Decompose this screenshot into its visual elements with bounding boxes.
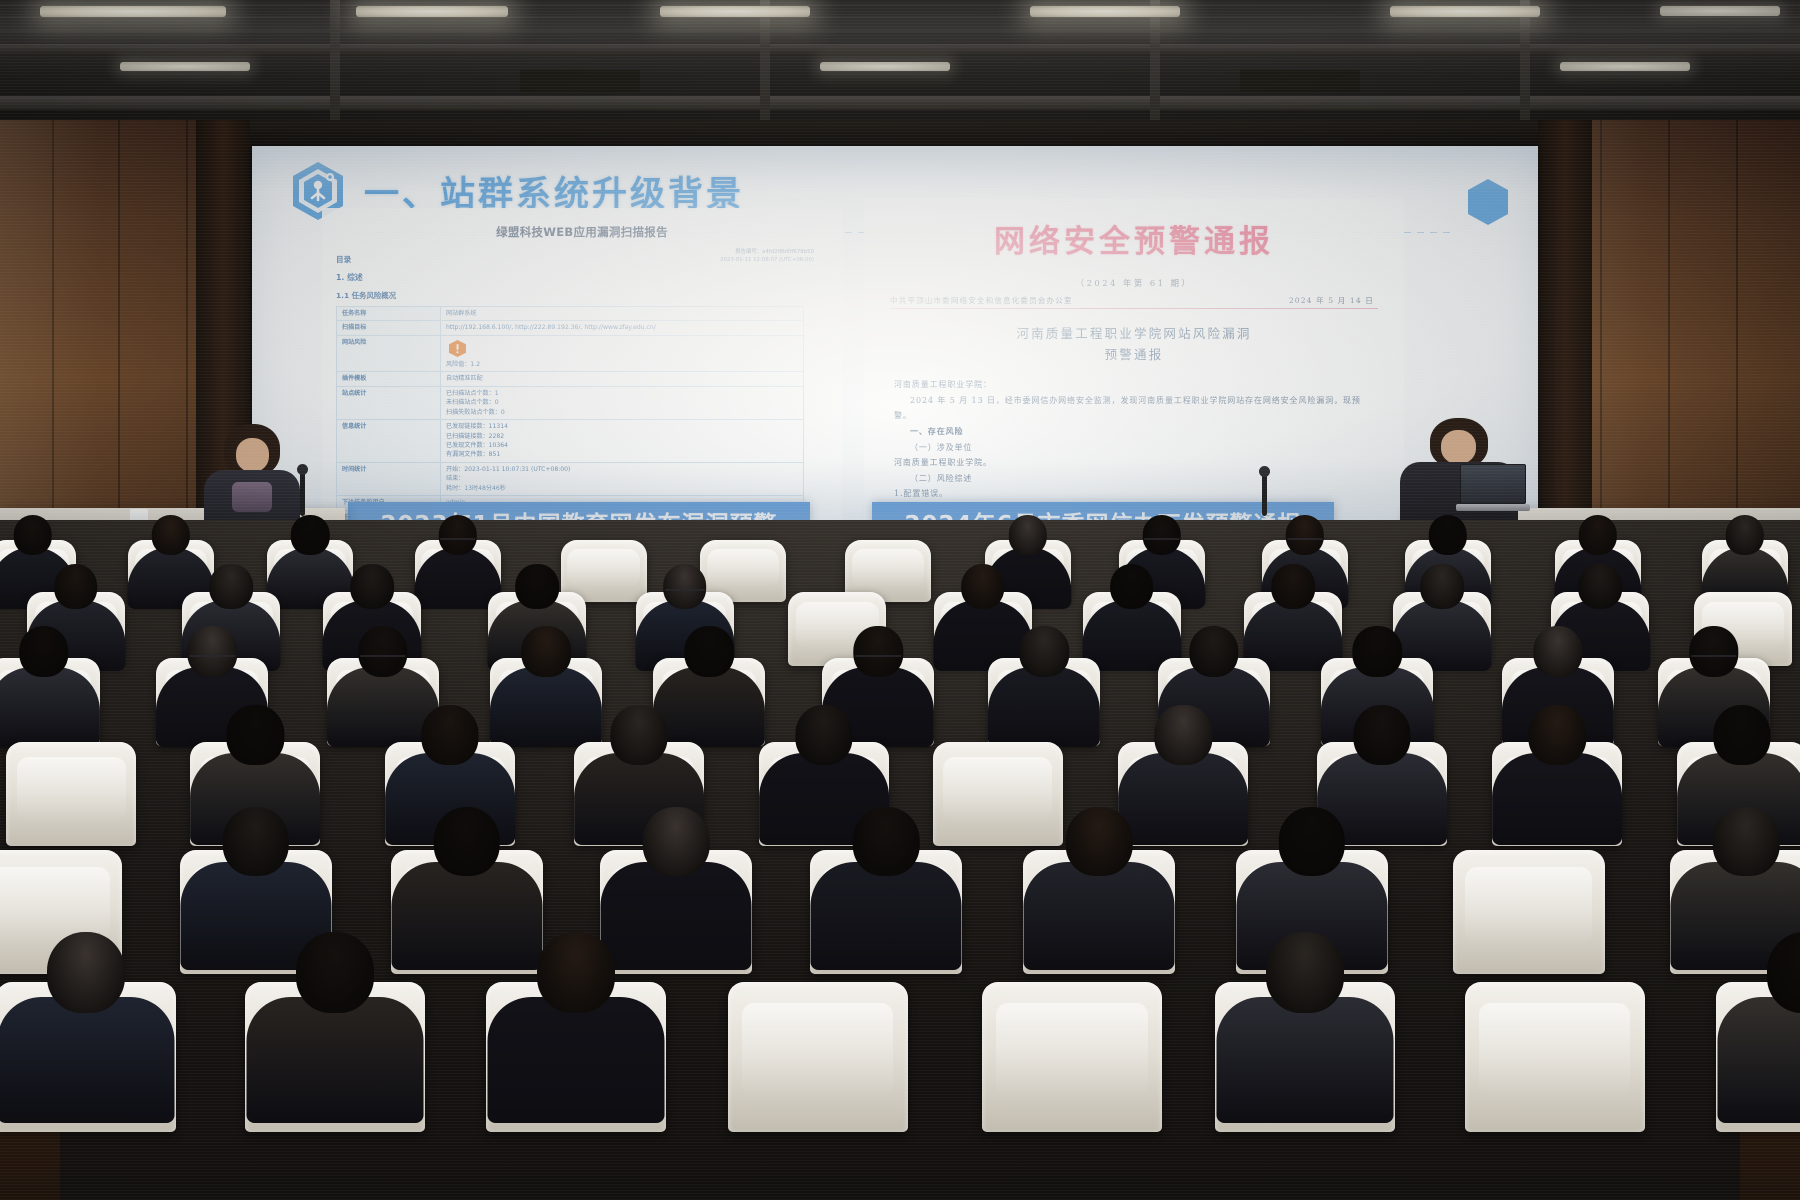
audience-head xyxy=(1271,564,1315,609)
audience-head xyxy=(1143,515,1181,555)
audience-head xyxy=(1155,705,1212,764)
audience-head xyxy=(1726,515,1764,555)
audience-head xyxy=(961,564,1005,609)
laptop-right xyxy=(1456,464,1530,516)
audience-head xyxy=(54,564,98,609)
ceiling-light xyxy=(356,6,508,17)
audience-head xyxy=(1353,626,1402,677)
notice-title: 网络安全预警通报 xyxy=(864,216,1404,261)
audience-chair xyxy=(982,982,1162,1132)
notice-item-1-2: （二）风险综述 xyxy=(894,471,1374,487)
table-row: 插件模板自动精准匹配 xyxy=(337,372,804,386)
audience-member xyxy=(988,626,1100,757)
notice-issuer: 中共平顶山市委网络安全和信息化委员会办公室 xyxy=(890,295,1073,306)
notice-item-1-2-text: 1.配置错误。 xyxy=(894,486,1374,502)
audience-member xyxy=(810,807,961,984)
eyeglasses xyxy=(360,655,405,657)
ceiling-light xyxy=(120,62,250,71)
row-value: http://192.168.6.100/, http://222.89.192… xyxy=(441,321,804,335)
row-value: 开始：2023-01-11 10:07:31 (UTC+08:00)结束：耗时：… xyxy=(441,462,804,495)
audience-head xyxy=(1020,626,1069,677)
row-value: 网站群系统 xyxy=(441,307,804,321)
audience-area xyxy=(0,520,1800,1200)
ceiling-light xyxy=(1660,6,1780,16)
audience-head xyxy=(854,626,903,677)
audience-head xyxy=(296,932,374,1013)
row-key: 信息统计 xyxy=(337,420,441,463)
eyeglasses xyxy=(190,655,235,657)
row-value: 自动精准匹配 xyxy=(441,372,804,386)
audience-head xyxy=(610,705,667,764)
row-value-line: 已扫描站点个数：1 xyxy=(446,389,798,398)
table-row: 站点统计已扫描站点个数：1未扫描站点个数：0扫描失败站点个数：0 xyxy=(337,386,804,419)
row-value-line: 有漏洞文件数：851 xyxy=(446,450,798,459)
microphone-left xyxy=(300,470,306,516)
security-notice-document: 网络安全预警通报 （2024 年第 61 期） 中共平顶山市委网络安全和信息化委… xyxy=(864,198,1404,538)
row-value-line: 自动精准匹配 xyxy=(446,374,798,383)
audience-member xyxy=(1217,932,1394,1139)
row-value: 已发现链接数：11314已扫描链接数：2282已发现文件数：10364有漏洞文件… xyxy=(441,420,804,463)
ceiling-light xyxy=(1560,62,1690,71)
row-value-line: 网站群系统 xyxy=(446,309,798,318)
audience-head xyxy=(515,564,559,609)
audience-head xyxy=(438,515,476,555)
row-key: 扫描目标 xyxy=(337,321,441,335)
audience-head xyxy=(796,705,853,764)
audience-member xyxy=(1717,932,1800,1139)
notice-body: 河南质量工程职业学院： 2024 年 5 月 13 日，经市委网信办网络安全监测… xyxy=(894,377,1374,502)
audience-head xyxy=(19,626,68,677)
scan-report-document: 绿盟科技WEB应用漏洞扫描报告 报告编号：a4fd2f8b6ff678b50 2… xyxy=(322,208,842,538)
row-value-line: 耗时：13时48分46秒 xyxy=(446,484,798,493)
eyeglasses xyxy=(665,589,705,591)
audience-chair xyxy=(1465,982,1645,1132)
hexagon-icon xyxy=(1466,178,1510,226)
section-1-heading: 1. 综述 xyxy=(336,272,842,283)
ceiling-light xyxy=(1030,6,1180,17)
audience-head xyxy=(227,705,284,764)
ceiling-light xyxy=(1390,6,1540,17)
audience-head xyxy=(210,564,254,609)
audience-shoulders xyxy=(488,997,665,1123)
audience-member xyxy=(0,626,100,757)
audience-head xyxy=(1529,705,1586,764)
audience-head xyxy=(1189,626,1238,677)
notice-divider xyxy=(890,308,1378,309)
audience-head xyxy=(1266,932,1344,1013)
audience-head xyxy=(291,515,329,555)
table-row: 任务名称网站群系统 xyxy=(337,307,804,321)
ceiling-light xyxy=(40,6,226,17)
ceiling-light xyxy=(820,62,950,71)
audience-shoulders xyxy=(246,997,423,1123)
audience-shoulders xyxy=(1217,997,1394,1123)
eyeglasses xyxy=(1287,538,1322,540)
audience-member xyxy=(1024,807,1175,984)
row-value-line: 风险值：1.2 xyxy=(446,360,798,369)
ceiling xyxy=(0,0,1800,128)
audience-head xyxy=(358,626,407,677)
notice-issue: （2024 年第 61 期） xyxy=(864,277,1404,289)
audience-member xyxy=(0,932,174,1139)
notice-subject: 河南质量工程职业学院网站风险漏洞 预警通报 xyxy=(864,324,1404,365)
table-row: 信息统计已发现链接数：11314已扫描链接数：2282已发现文件数：10364有… xyxy=(337,420,804,463)
row-value: 已扫描站点个数：1未扫描站点个数：0扫描失败站点个数：0 xyxy=(441,386,804,419)
row-key: 插件模板 xyxy=(337,372,441,386)
scan-report-title: 绿盟科技WEB应用漏洞扫描报告 xyxy=(322,224,842,240)
audience-head xyxy=(14,515,52,555)
audience-head xyxy=(1533,626,1582,677)
audience-shoulders xyxy=(1024,862,1175,970)
notice-salutation: 河南质量工程职业学院： xyxy=(894,377,1374,393)
row-key: 站点统计 xyxy=(337,386,441,419)
audience-head xyxy=(350,564,394,609)
ceiling-light xyxy=(660,6,810,17)
row-value-line: 已发现文件数：10364 xyxy=(446,441,798,450)
scan-report-meta: 报告编号：a4fd2f8b6ff678b50 2023-01-11 12:08:… xyxy=(720,248,814,264)
audience-member xyxy=(1492,705,1622,857)
row-key: 任务名称 xyxy=(337,307,441,321)
audience-shoulders xyxy=(1492,753,1622,845)
row-key: 时间统计 xyxy=(337,462,441,495)
microphone-right xyxy=(1262,472,1268,516)
audience-head xyxy=(1110,564,1154,609)
eyeglasses xyxy=(440,538,475,540)
eyeglasses xyxy=(1691,655,1736,657)
audience-head xyxy=(222,807,289,876)
audience-head xyxy=(537,932,615,1013)
audience-member xyxy=(488,932,665,1139)
section-1-1-heading: 1.1 任务风险概况 xyxy=(336,290,842,301)
row-value-line: 已发现链接数：11314 xyxy=(446,422,798,431)
speaker-left xyxy=(196,424,306,520)
audience-shoulders xyxy=(988,667,1100,747)
audience-head xyxy=(1286,515,1324,555)
row-value: 风险值：1.2 xyxy=(441,335,804,371)
audience-member xyxy=(246,932,423,1139)
projection-screen: 一、站群系统升级背景 绿盟科技WEB应用漏洞扫描报告 报告编号：a4fd2f8b… xyxy=(252,146,1538,538)
audience-shoulders xyxy=(0,997,174,1123)
audience-head xyxy=(188,626,237,677)
row-value-line: 扫描失败站点个数：0 xyxy=(446,408,798,417)
table-row: 时间统计开始：2023-01-11 10:07:31 (UTC+08:00)结束… xyxy=(337,462,804,495)
row-value-line: 已扫描链接数：2282 xyxy=(446,432,798,441)
audience-chair xyxy=(6,742,136,846)
audience-head xyxy=(1420,564,1464,609)
audience-shoulders xyxy=(1717,997,1800,1123)
audience-head xyxy=(1689,626,1738,677)
screen-top-band xyxy=(250,120,1538,146)
audience-head xyxy=(47,932,125,1013)
audience-head xyxy=(1278,807,1345,876)
audience-head xyxy=(663,564,707,609)
audience-head xyxy=(1713,705,1770,764)
eyeglasses xyxy=(856,655,901,657)
audience-head xyxy=(1713,807,1780,876)
notice-date: 2024 年 5 月 14 日 xyxy=(1289,295,1374,306)
audience-shoulders xyxy=(810,862,961,970)
notice-item-1-1: （一）涉及单位 xyxy=(894,440,1374,456)
notice-item-1: 一、存在风险 xyxy=(894,424,1374,440)
audience-head xyxy=(1354,705,1411,764)
audience-head xyxy=(1429,515,1467,555)
row-value-line: http://192.168.6.100/, http://222.89.192… xyxy=(446,323,798,332)
audience-head xyxy=(152,515,190,555)
audience-shoulders xyxy=(0,667,100,747)
audience-head xyxy=(1009,515,1047,555)
table-row: 扫描目标http://192.168.6.100/, http://222.89… xyxy=(337,321,804,335)
audience-head xyxy=(643,807,710,876)
audience-head xyxy=(522,626,571,677)
audience-head xyxy=(422,705,479,764)
notice-item-1-1-text: 河南质量工程职业学院。 xyxy=(894,455,1374,471)
audience-head xyxy=(853,807,920,876)
row-key: 网站风险 xyxy=(337,335,441,371)
row-value-line: 结束： xyxy=(446,474,798,483)
audience-head xyxy=(433,807,500,876)
audience-head xyxy=(1579,515,1617,555)
row-value-line: 未扫描站点个数：0 xyxy=(446,398,798,407)
eyeglasses xyxy=(1144,538,1179,540)
notice-issuer-row: 中共平顶山市委网络安全和信息化委员会办公室 2024 年 5 月 14 日 xyxy=(890,295,1374,306)
audience-chair xyxy=(728,982,908,1132)
audience-head xyxy=(1066,807,1133,876)
table-row: 网站风险风险值：1.2 xyxy=(337,335,804,371)
notice-paragraph: 2024 年 5 月 13 日，经市委网信办网络安全监测，发现河南质量工程职业学… xyxy=(894,393,1374,424)
audience-head xyxy=(1579,564,1623,609)
row-value-line: 开始：2023-01-11 10:07:31 (UTC+08:00) xyxy=(446,465,798,474)
alert-hexagon-icon xyxy=(448,340,467,357)
conference-room-photo: 一、站群系统升级背景 绿盟科技WEB应用漏洞扫描报告 报告编号：a4fd2f8b… xyxy=(0,0,1800,1200)
audience-chair xyxy=(1453,850,1605,974)
audience-head xyxy=(684,626,733,677)
